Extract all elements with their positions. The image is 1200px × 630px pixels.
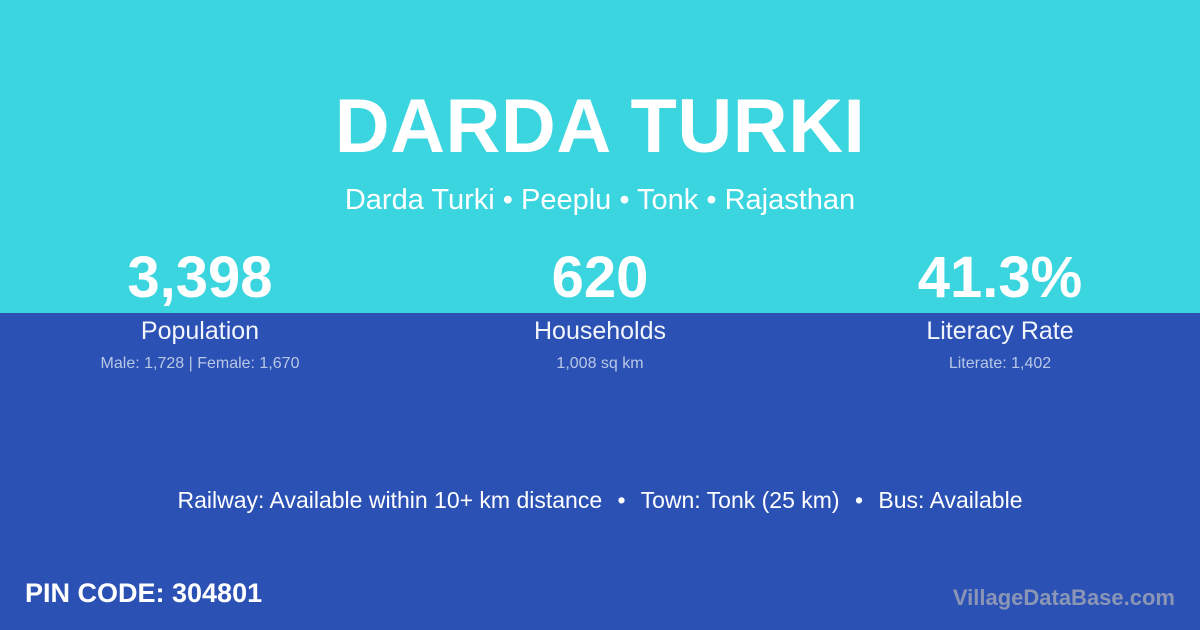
facility-separator-icon: • — [609, 484, 635, 516]
stat-value: 41.3% — [800, 243, 1200, 313]
site-watermark: VillageDataBase.com — [953, 584, 1175, 612]
facility-separator-icon: • — [846, 484, 872, 516]
pin-code: PIN CODE: 304801 — [25, 575, 262, 611]
stat-value: 3,398 — [0, 243, 400, 313]
stats-row: 3,398 Population Male: 1,728 | Female: 1… — [0, 243, 1200, 374]
breadcrumb: Darda Turki • Peeplu • Tonk • Rajasthan — [0, 181, 1200, 219]
facility-railway: Railway: Available within 10+ km distanc… — [177, 487, 602, 513]
stat-sublabel: Literate: 1,402 — [800, 354, 1200, 374]
page-title: DARDA TURKI — [0, 79, 1200, 175]
stat-population: 3,398 Population Male: 1,728 | Female: 1… — [0, 243, 400, 374]
stat-literacy-rate: 41.3% Literacy Rate Literate: 1,402 — [800, 243, 1200, 374]
stat-label: Literacy Rate — [800, 315, 1200, 347]
stat-sublabel: 1,008 sq km — [400, 354, 800, 374]
stat-households: 620 Households 1,008 sq km — [400, 243, 800, 374]
card-footer: PIN CODE: 304801 VillageDataBase.com — [0, 570, 1200, 630]
facilities-line: Railway: Available within 10+ km distanc… — [0, 484, 1200, 516]
village-info-card: DARDA TURKI Darda Turki • Peeplu • Tonk … — [0, 0, 1200, 630]
facility-town: Town: Tonk (25 km) — [641, 487, 840, 513]
stat-value: 620 — [400, 243, 800, 313]
facility-bus: Bus: Available — [878, 487, 1022, 513]
stat-label: Households — [400, 315, 800, 347]
stat-label: Population — [0, 315, 400, 347]
stat-sublabel: Male: 1,728 | Female: 1,670 — [0, 354, 400, 374]
